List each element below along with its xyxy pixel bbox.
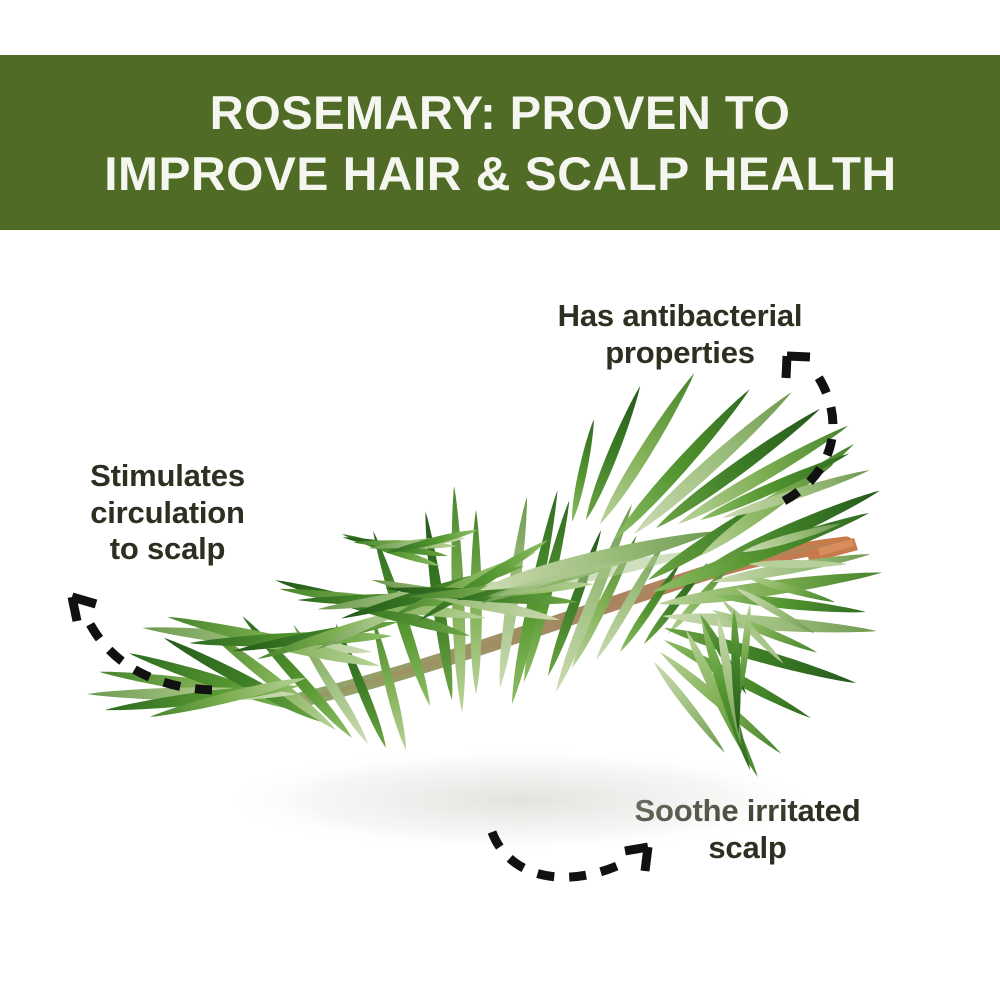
- banner-title-line-2: Improve Hair & Scalp Health: [104, 150, 896, 197]
- callout-antibacterial: Has antibacterial properties: [500, 298, 860, 371]
- sprig-leaves-lower-left: [87, 612, 411, 751]
- sprig-leaves-left-upper: [142, 596, 420, 673]
- infographic-page: Rosemary: Proven to Improve Hair & Scalp…: [0, 0, 1000, 1000]
- sprig-leaves-right: [644, 438, 883, 757]
- sprig-leaves-bottom: [368, 486, 737, 712]
- arrow-antibacterial: [784, 356, 833, 501]
- sprig-leaves-top-tuft: [341, 526, 479, 569]
- banner-title-line-1: Rosemary: Proven to: [210, 89, 791, 136]
- sprig-leaves-upper: [273, 536, 623, 642]
- sprig-feature-leaf: [478, 522, 717, 603]
- callout-circulation: Stimulates circulation to scalp: [45, 458, 290, 568]
- header-banner: Rosemary: Proven to Improve Hair & Scalp…: [0, 55, 1000, 230]
- sprig-leaves-bottom-right: [681, 604, 763, 780]
- arrow-circulation: [72, 597, 212, 690]
- sprig-leaves-stem-right: [697, 520, 847, 697]
- sprig-stem: [300, 538, 858, 700]
- sprig-leaves-top-right: [568, 370, 871, 545]
- stem-cut-end: [806, 538, 858, 563]
- callout-soothe: Soothe irritated scalp: [580, 793, 915, 866]
